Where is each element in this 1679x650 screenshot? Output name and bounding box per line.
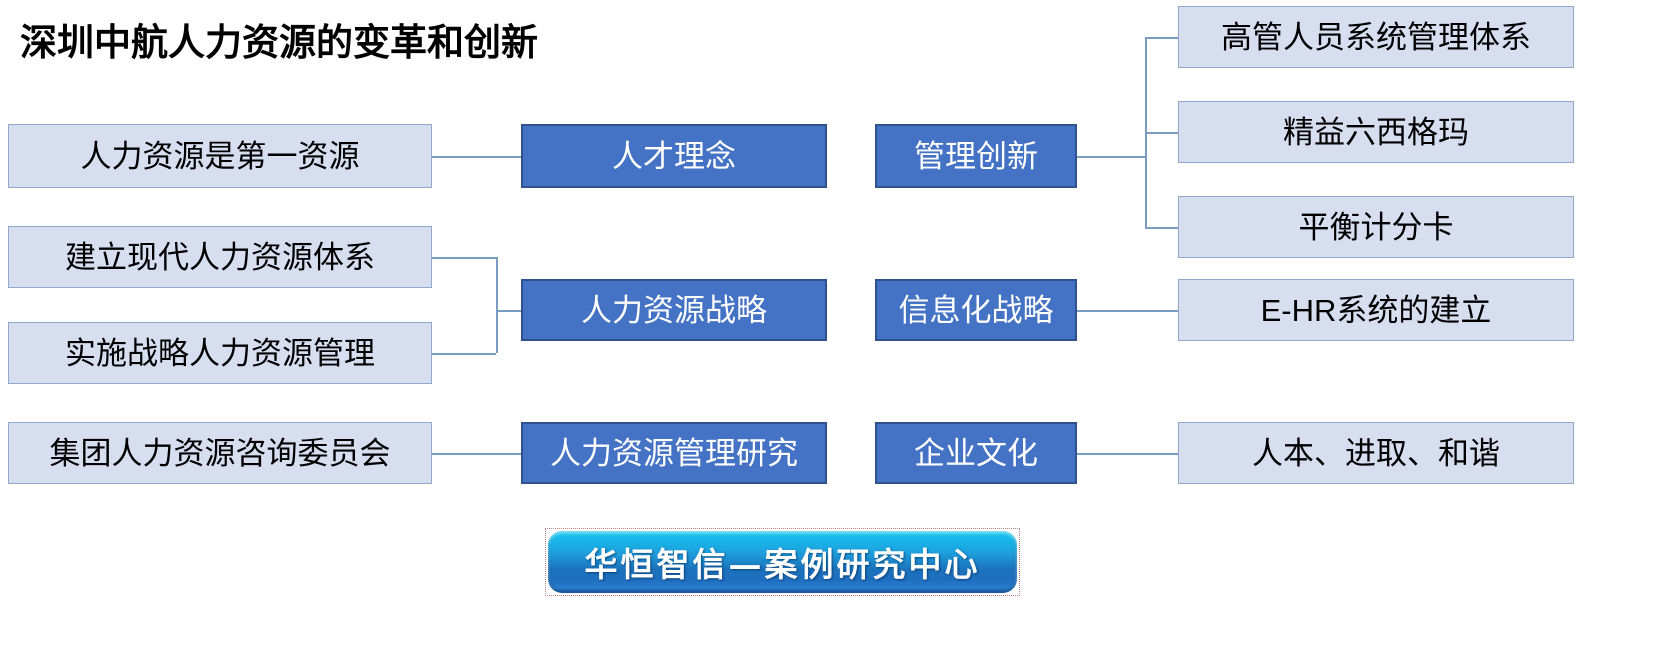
connector-second1-stub (1077, 156, 1145, 158)
right-node-5[interactable]: 人本、进取、和谐 (1178, 422, 1574, 484)
right-node-5-label: 人本、进取、和谐 (1252, 438, 1500, 469)
center-node-1[interactable]: 人才理念 (521, 124, 827, 188)
connector-bracket-right2 (1145, 132, 1178, 134)
connector-second2-right4 (1077, 310, 1178, 312)
second-node-1[interactable]: 管理创新 (875, 124, 1077, 188)
second-node-2-label: 信息化战略 (899, 295, 1054, 326)
right-node-4[interactable]: E-HR系统的建立 (1178, 279, 1574, 341)
right-node-2-label: 精益六西格玛 (1283, 117, 1469, 148)
right-node-1[interactable]: 高管人员系统管理体系 (1178, 6, 1574, 68)
slide-canvas: 深圳中航人力资源的变革和创新 人力资源是第一资源 建立现代人力资源体系 实施战略… (0, 0, 1679, 650)
left-node-2[interactable]: 建立现代人力资源体系 (8, 226, 432, 288)
left-node-3-label: 实施战略人力资源管理 (65, 338, 375, 369)
connector-second3-right5 (1077, 453, 1178, 455)
banner-label: 华恒智信—案例研究中心 (585, 538, 981, 586)
connector-left1-center1 (432, 156, 521, 158)
right-node-4-label: E-HR系统的建立 (1261, 295, 1492, 326)
connector-left3-stub (432, 353, 496, 355)
research-center-banner[interactable]: 华恒智信—案例研究中心 (548, 531, 1017, 593)
center-node-2[interactable]: 人力资源战略 (521, 279, 827, 341)
left-node-4[interactable]: 集团人力资源咨询委员会 (8, 422, 432, 484)
second-node-1-label: 管理创新 (914, 141, 1038, 172)
left-node-3[interactable]: 实施战略人力资源管理 (8, 322, 432, 384)
left-node-4-label: 集团人力资源咨询委员会 (50, 438, 391, 469)
second-node-3-label: 企业文化 (914, 438, 1038, 469)
page-title: 深圳中航人力资源的变革和创新 (20, 12, 538, 66)
right-node-3-label: 平衡计分卡 (1299, 212, 1454, 243)
second-node-3[interactable]: 企业文化 (875, 422, 1077, 484)
connector-left2-stub (432, 257, 496, 259)
connector-left-bracket-vertical (496, 257, 498, 353)
connector-bracket-right1 (1145, 37, 1178, 39)
center-node-3-label: 人力资源管理研究 (550, 438, 798, 469)
connector-bracket-right3 (1145, 227, 1178, 229)
right-node-3[interactable]: 平衡计分卡 (1178, 196, 1574, 258)
left-node-1-label: 人力资源是第一资源 (81, 141, 360, 172)
left-node-2-label: 建立现代人力资源体系 (65, 242, 375, 273)
banner-selection-frame: 华恒智信—案例研究中心 (545, 528, 1020, 596)
right-node-2[interactable]: 精益六西格玛 (1178, 101, 1574, 163)
right-node-1-label: 高管人员系统管理体系 (1221, 22, 1531, 53)
left-node-1[interactable]: 人力资源是第一资源 (8, 124, 432, 188)
connector-bracket-to-center2 (496, 310, 521, 312)
center-node-1-label: 人才理念 (612, 141, 736, 172)
center-node-2-label: 人力资源战略 (581, 295, 767, 326)
center-node-3[interactable]: 人力资源管理研究 (521, 422, 827, 484)
second-node-2[interactable]: 信息化战略 (875, 279, 1077, 341)
connector-left4-center3 (432, 453, 521, 455)
